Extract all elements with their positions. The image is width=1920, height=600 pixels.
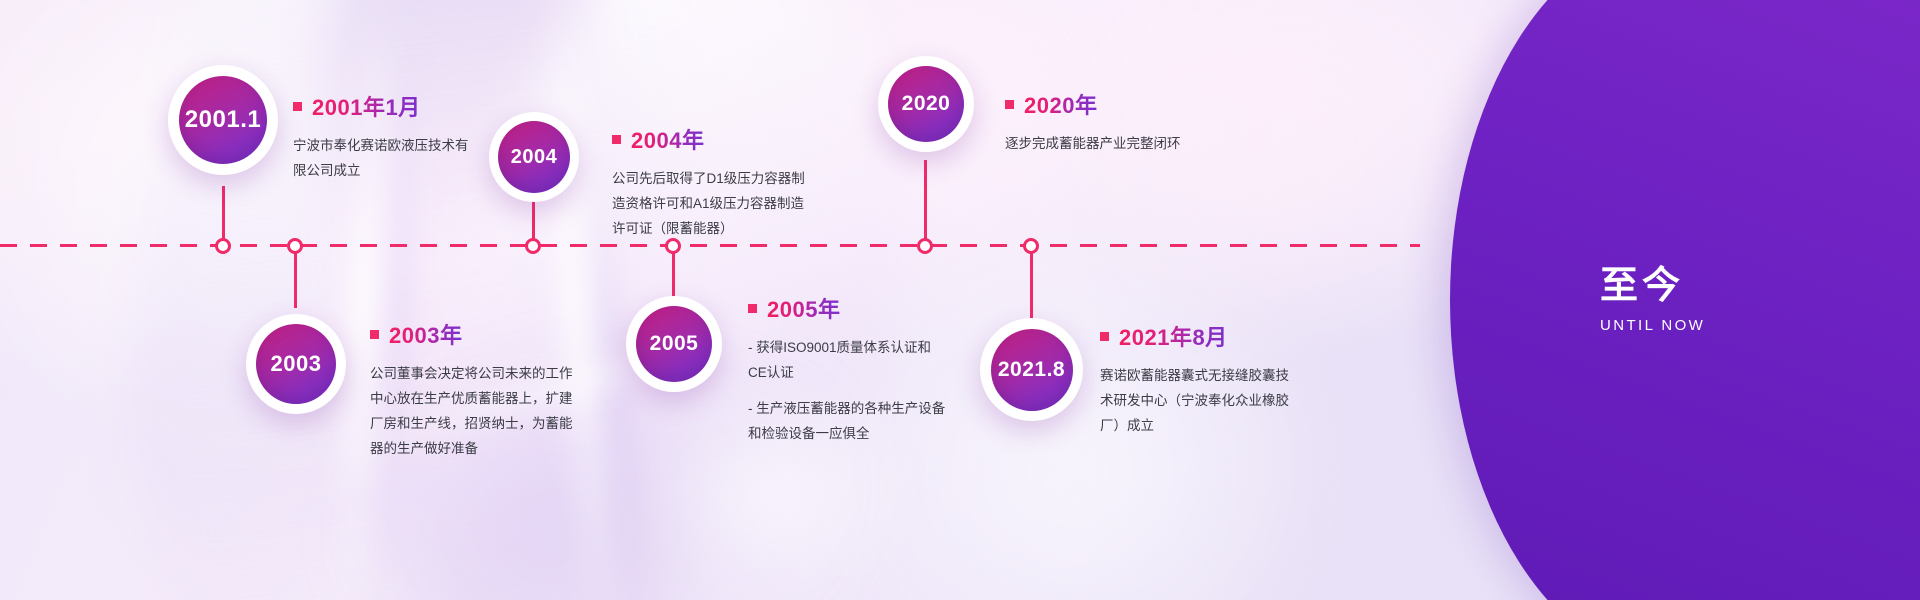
node-2021-8[interactable]: [1023, 238, 1039, 254]
until-now-title-en: UNTIL NOW: [1600, 317, 1920, 334]
milestone-heading: 2004年: [631, 123, 704, 155]
until-now-text: 至今 UNTIL NOW: [1540, 0, 1920, 600]
milestone-heading-row: 2004年: [612, 123, 807, 155]
milestone-circle-2003[interactable]: 2003: [246, 314, 346, 414]
milestone-circle-label: 2005: [636, 306, 712, 382]
timeline-stage: 至今 UNTIL NOW 2001.1 2001年1月 宁波市奉化赛诺欧液压技术…: [0, 0, 1920, 600]
milestone-heading-row: 2021年8月: [1100, 320, 1300, 352]
node-2001-1[interactable]: [215, 238, 231, 254]
milestone-heading: 2005年: [767, 292, 840, 324]
milestone-circle-2005[interactable]: 2005: [626, 296, 722, 392]
milestone-circle-label: 2021.8: [991, 329, 1073, 411]
bullet-square-icon: [370, 330, 379, 339]
milestone-circle-label: 2020: [888, 66, 964, 142]
stem-2020: [924, 160, 927, 244]
milestone-body: 公司先后取得了D1级压力容器制造资格许可和A1级压力容器制造许可证（限蓄能器）: [612, 167, 807, 242]
bullet-square-icon: [612, 135, 621, 144]
stem-2021-8: [1030, 244, 1033, 320]
milestone-body-line: 公司先后取得了D1级压力容器制造资格许可和A1级压力容器制造许可证（限蓄能器）: [612, 167, 807, 242]
milestone-body: - 获得ISO9001质量体系认证和CE认证 - 生产液压蓄能器的各种生产设备和…: [748, 336, 948, 447]
milestone-circle-2001-1[interactable]: 2001.1: [168, 65, 278, 175]
bullet-square-icon: [1100, 332, 1109, 341]
milestone-circle-label: 2003: [256, 324, 336, 404]
milestone-body-line: 赛诺欧蓄能器囊式无接缝胶囊技术研发中心（宁波奉化众业橡胶厂）成立: [1100, 364, 1300, 439]
milestone-body-line: - 获得ISO9001质量体系认证和CE认证: [748, 336, 948, 386]
milestone-body: 公司董事会决定将公司未来的工作中心放在生产优质蓄能器上，扩建厂房和生产线，招贤纳…: [370, 362, 585, 462]
milestone-circle-label: 2001.1: [179, 76, 267, 164]
node-2004[interactable]: [525, 238, 541, 254]
milestone-circle-2021-8[interactable]: 2021.8: [980, 318, 1083, 421]
milestone-circle-2004[interactable]: 2004: [489, 112, 579, 202]
milestone-block-2005: 2005年 - 获得ISO9001质量体系认证和CE认证 - 生产液压蓄能器的各…: [748, 292, 948, 447]
milestone-circle-label: 2004: [498, 121, 570, 193]
milestone-body-line: 宁波市奉化赛诺欧液压技术有限公司成立: [293, 134, 478, 184]
milestone-body: 赛诺欧蓄能器囊式无接缝胶囊技术研发中心（宁波奉化众业橡胶厂）成立: [1100, 364, 1300, 439]
milestone-heading-row: 2005年: [748, 292, 948, 324]
timeline-axis: [0, 244, 1420, 247]
milestone-block-2003: 2003年 公司董事会决定将公司未来的工作中心放在生产优质蓄能器上，扩建厂房和生…: [370, 318, 585, 462]
milestone-heading-row: 2020年: [1005, 88, 1220, 120]
milestone-body-line: - 生产液压蓄能器的各种生产设备和检验设备一应俱全: [748, 397, 948, 447]
milestone-block-2001-1: 2001年1月 宁波市奉化赛诺欧液压技术有限公司成立: [293, 90, 478, 184]
milestone-body: 宁波市奉化赛诺欧液压技术有限公司成立: [293, 134, 478, 184]
milestone-block-2020: 2020年 逐步完成蓄能器产业完整闭环: [1005, 88, 1220, 157]
milestone-heading-row: 2003年: [370, 318, 585, 350]
stem-2001-1: [222, 186, 225, 244]
milestone-body-line: 逐步完成蓄能器产业完整闭环: [1005, 132, 1220, 157]
milestone-circle-2020[interactable]: 2020: [878, 56, 974, 152]
milestone-body: 逐步完成蓄能器产业完整闭环: [1005, 132, 1220, 157]
until-now-title-cn: 至今: [1600, 266, 1920, 308]
bullet-square-icon: [748, 304, 757, 313]
milestone-block-2021-8: 2021年8月 赛诺欧蓄能器囊式无接缝胶囊技术研发中心（宁波奉化众业橡胶厂）成立: [1100, 320, 1300, 439]
node-2020[interactable]: [917, 238, 933, 254]
milestone-block-2004: 2004年 公司先后取得了D1级压力容器制造资格许可和A1级压力容器制造许可证（…: [612, 123, 807, 242]
milestone-heading-row: 2001年1月: [293, 90, 478, 122]
milestone-heading: 2001年1月: [312, 90, 421, 122]
bullet-square-icon: [1005, 100, 1014, 109]
milestone-heading: 2021年8月: [1119, 320, 1228, 352]
bullet-square-icon: [293, 102, 302, 111]
milestone-body-line: 公司董事会决定将公司未来的工作中心放在生产优质蓄能器上，扩建厂房和生产线，招贤纳…: [370, 362, 585, 462]
milestone-heading: 2003年: [389, 318, 462, 350]
milestone-heading: 2020年: [1024, 88, 1097, 120]
node-2003[interactable]: [287, 238, 303, 254]
